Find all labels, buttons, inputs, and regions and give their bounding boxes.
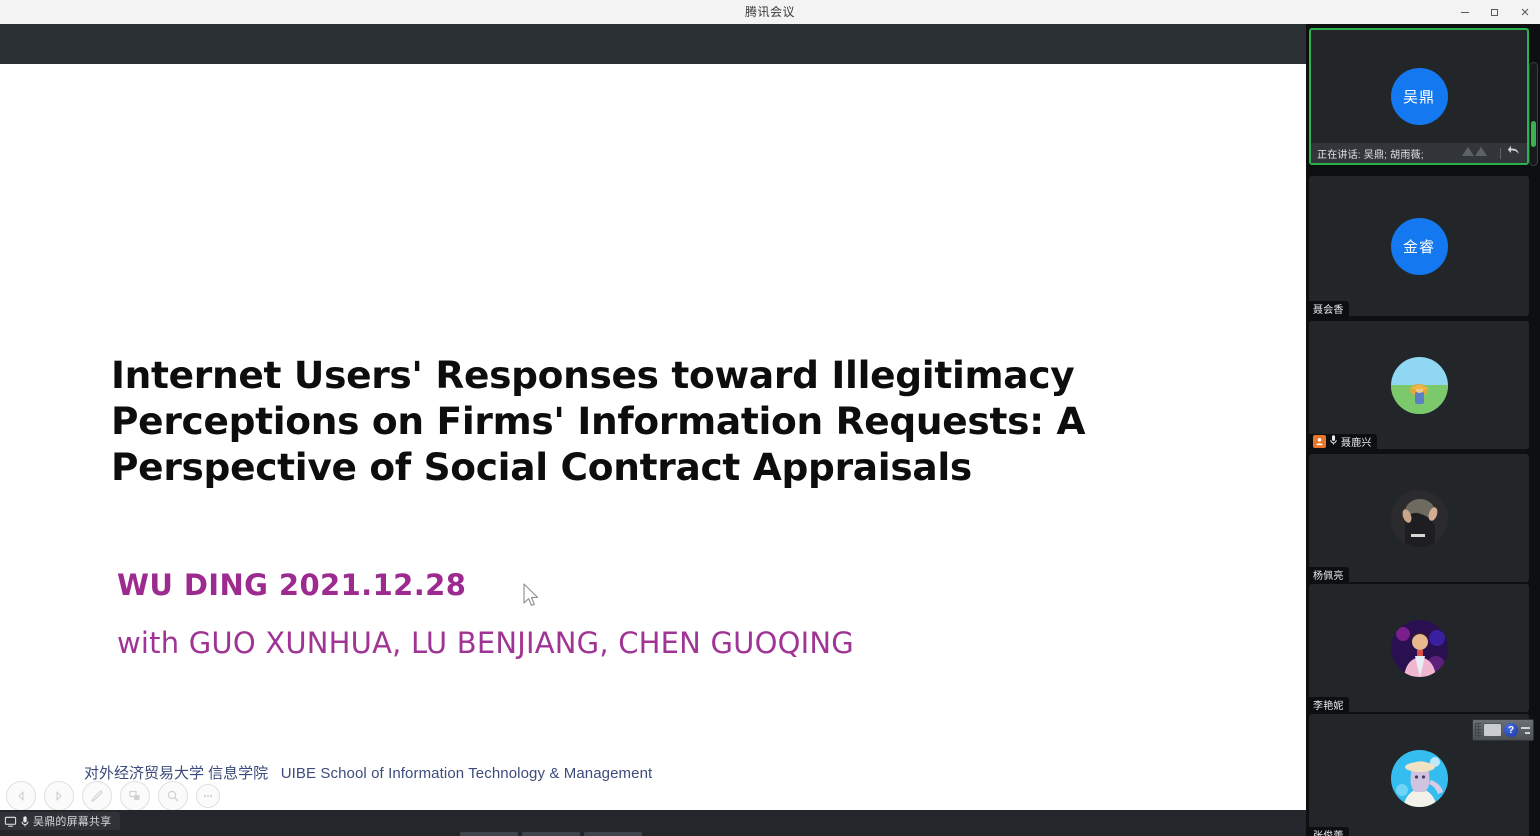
participant-name-chip: 李艳妮	[1309, 697, 1349, 712]
pen-annotation-button[interactable]	[82, 781, 112, 811]
mouse-cursor	[522, 583, 542, 611]
slides-grid-icon	[127, 788, 143, 804]
avatar	[1391, 357, 1448, 414]
monitor-icon[interactable]	[1483, 723, 1502, 737]
participant-video-area	[1309, 454, 1529, 582]
slide-footer-cn: 对外经济贸易大学 信息学院	[84, 765, 268, 782]
slide-title: Internet Users' Responses toward Illegit…	[111, 352, 1236, 490]
participant-rail: 吴鼎 正在讲话: 吴鼎; 胡雨薇;	[1306, 24, 1540, 836]
screen-share-status: 吴鼎的屏幕共享	[0, 812, 120, 830]
window-title: 腾讯会议	[0, 0, 1540, 24]
microphone-icon	[1329, 433, 1338, 450]
participant-tile-speaking[interactable]: 吴鼎 正在讲话: 吴鼎; 胡雨薇;	[1309, 28, 1529, 165]
pen-icon	[89, 788, 105, 804]
menu-icon[interactable]	[1520, 727, 1530, 734]
participant-name: 张俊蕾	[1313, 827, 1344, 836]
participant-name-chip: 聂鹿兴	[1309, 434, 1377, 449]
host-badge-icon	[1313, 435, 1326, 448]
speaking-banner: 正在讲话: 吴鼎; 胡雨薇;	[1311, 143, 1527, 163]
ellipsis-icon	[201, 789, 215, 803]
taskbar-item-2[interactable]	[522, 832, 580, 836]
close-button[interactable]	[1510, 0, 1540, 24]
return-arrow-icon[interactable]	[1507, 144, 1521, 162]
participant-name: 聂鹿兴	[1341, 434, 1372, 449]
restore-button[interactable]	[1480, 0, 1510, 24]
participant-name-chip: 张俊蕾	[1309, 827, 1349, 836]
grip-icon[interactable]	[1475, 723, 1481, 737]
help-icon[interactable]: ?	[1504, 723, 1518, 737]
window-controls	[1450, 0, 1540, 24]
participant-tile[interactable]: 金睿 聂会香	[1309, 176, 1529, 316]
participant-name-chip: 杨佩亮	[1309, 567, 1349, 582]
all-slides-button[interactable]	[120, 781, 150, 811]
slide-footer: 对外经济贸易大学 信息学院 UIBE School of Information…	[84, 762, 652, 783]
previous-slide-button[interactable]	[6, 781, 36, 811]
banner-divider	[1500, 148, 1501, 159]
window-titlebar: 腾讯会议	[0, 0, 1540, 25]
participant-video-area: 金睿	[1309, 176, 1529, 316]
microphone-icon	[20, 815, 30, 828]
tencent-meeting-window: 腾讯会议 Internet Users' Responses toward Il…	[0, 0, 1540, 836]
monitor-share-icon	[4, 815, 17, 828]
slide-footer-en: UIBE School of Information Technology & …	[281, 765, 653, 782]
participant-tile[interactable]: 聂鹿兴	[1309, 321, 1529, 449]
slide-coauthors-line: with GUO XUNHUA, LU BENJIANG, CHEN GUOQI…	[117, 626, 854, 660]
taskbar-item-3[interactable]	[584, 832, 642, 836]
floating-mini-toolbar[interactable]: ?	[1472, 719, 1534, 741]
participant-name: 杨佩亮	[1313, 567, 1344, 582]
screen-share-status-text: 吴鼎的屏幕共享	[33, 813, 111, 829]
participant-rail-scrollbar[interactable]	[1529, 62, 1538, 166]
audio-level-icon	[1460, 144, 1494, 163]
presentation-toolbar	[6, 781, 220, 811]
triangle-left-icon	[14, 789, 28, 803]
avatar: 吴鼎	[1391, 68, 1448, 125]
zoom-slide-button[interactable]	[158, 781, 188, 811]
avatar: 金睿	[1391, 218, 1448, 275]
more-options-button[interactable]	[196, 784, 220, 808]
participant-tile[interactable]: 李艳妮	[1309, 584, 1529, 712]
avatar	[1391, 620, 1448, 677]
presentation-slide: Internet Users' Responses toward Illegit…	[0, 64, 1306, 810]
triangle-right-icon	[52, 789, 66, 803]
participant-tile[interactable]: 杨佩亮	[1309, 454, 1529, 582]
participant-name-chip: 聂会香	[1309, 301, 1349, 316]
next-slide-button[interactable]	[44, 781, 74, 811]
participant-video-area	[1309, 321, 1529, 449]
participant-name: 聂会香	[1313, 301, 1344, 316]
magnifier-icon	[165, 788, 181, 804]
avatar	[1391, 750, 1448, 807]
participant-video-area	[1309, 584, 1529, 712]
speaking-banner-text: 正在讲话: 吴鼎; 胡雨薇;	[1317, 146, 1454, 161]
shared-screen-top-band	[0, 24, 1306, 66]
shared-screen-area: Internet Users' Responses toward Illegit…	[0, 24, 1306, 810]
slide-presenter-line: WU DING 2021.12.28	[117, 568, 466, 602]
participant-name: 李艳妮	[1313, 697, 1344, 712]
scrollbar-thumb[interactable]	[1531, 121, 1536, 147]
taskbar-item-1[interactable]	[460, 832, 518, 836]
minimize-button[interactable]	[1450, 0, 1480, 24]
avatar	[1391, 490, 1448, 547]
